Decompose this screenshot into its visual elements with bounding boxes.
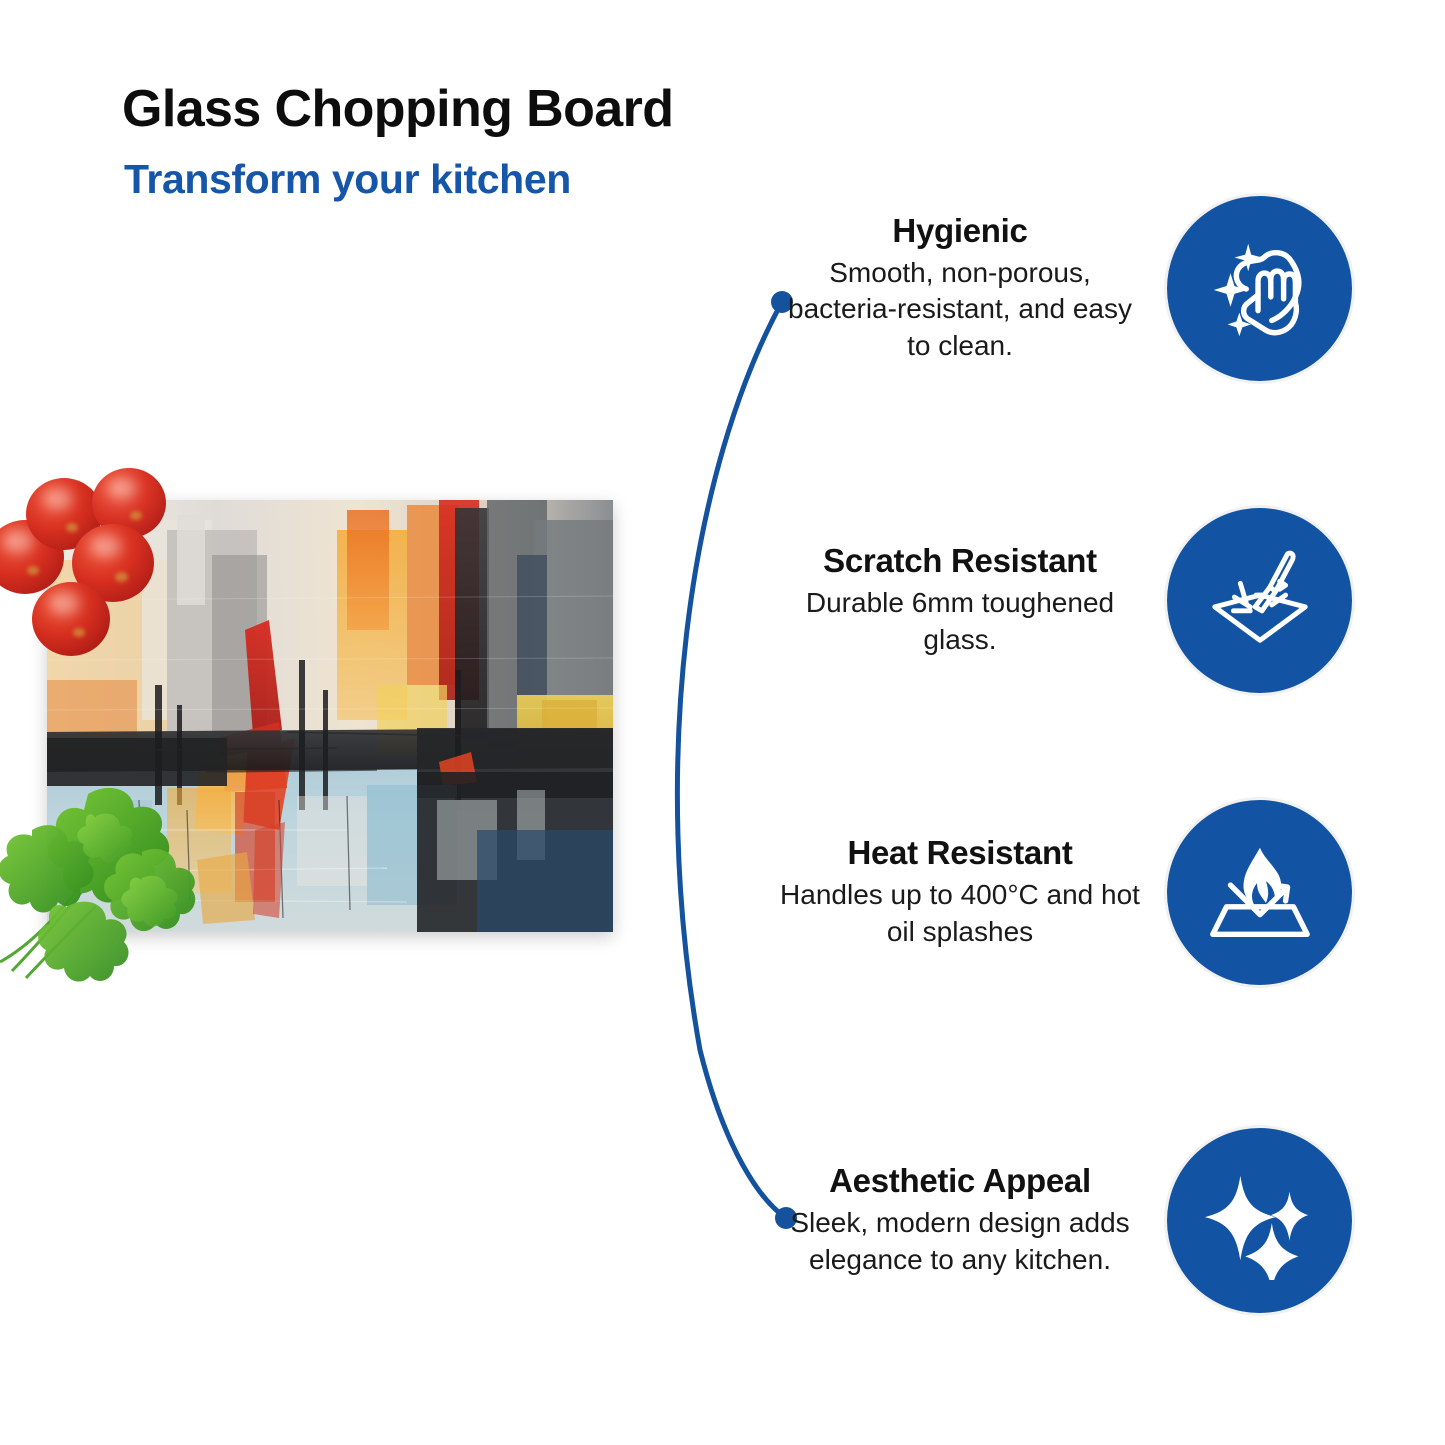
feature-description: Durable 6mm toughened glass. — [775, 585, 1145, 659]
feature-description: Handles up to 400°C and hot oil splashes — [775, 877, 1145, 951]
feature-description: Sleek, modern design adds elegance to an… — [775, 1205, 1145, 1279]
feature-title: Hygienic — [775, 212, 1145, 250]
page-title: Glass Chopping Board — [122, 82, 673, 137]
connector-path — [677, 302, 786, 1218]
hand-wiping-sparkle-icon — [1201, 230, 1319, 348]
feature-title: Aesthetic Appeal — [775, 1162, 1145, 1200]
feature-text-block: Aesthetic Appeal Sleek, modern design ad… — [775, 1162, 1145, 1279]
feature-text-block: Heat Resistant Handles up to 400°C and h… — [775, 834, 1145, 951]
feature-description: Smooth, non-porous, bacteria-resistant, … — [775, 255, 1145, 366]
page-subtitle: Transform your kitchen — [124, 158, 571, 201]
feature-hygienic: Hygienic Smooth, non-porous, bacteria-re… — [775, 196, 1352, 381]
feature-text-block: Hygienic Smooth, non-porous, bacteria-re… — [775, 212, 1145, 366]
infographic-canvas: Glass Chopping Board Transform your kitc… — [0, 0, 1445, 1445]
feature-badge — [1167, 196, 1352, 381]
feature-heat-resistant: Heat Resistant Handles up to 400°C and h… — [775, 800, 1352, 985]
feature-badge — [1167, 508, 1352, 693]
sparkles-icon — [1201, 1162, 1319, 1280]
feature-badge — [1167, 1128, 1352, 1313]
knife-on-surface-icon — [1201, 542, 1319, 660]
parsley-leaves — [0, 766, 220, 986]
flame-deflect-icon — [1201, 834, 1319, 952]
parsley-prop — [0, 766, 220, 986]
feature-scratch-resistant: Scratch Resistant Durable 6mm toughened … — [775, 508, 1352, 693]
feature-title: Heat Resistant — [775, 834, 1145, 872]
feature-badge — [1167, 800, 1352, 985]
tomato-prop — [32, 582, 110, 656]
feature-text-block: Scratch Resistant Durable 6mm toughened … — [775, 542, 1145, 659]
feature-title: Scratch Resistant — [775, 542, 1145, 580]
feature-aesthetic-appeal: Aesthetic Appeal Sleek, modern design ad… — [775, 1128, 1352, 1313]
